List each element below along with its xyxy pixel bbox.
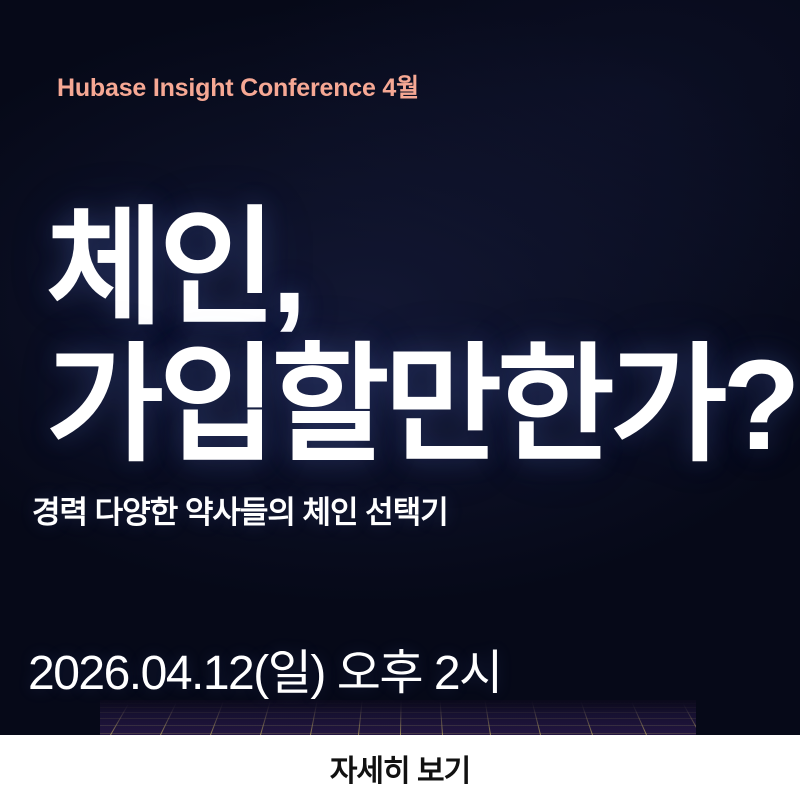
event-datetime: 2026.04.12(일) 오후 2시: [28, 633, 502, 703]
subtitle: 경력 다양한 약사들의 체인 선택기: [32, 487, 448, 532]
event-poster: Hubase Insight Conference 4월 체인, 가입할만한가?…: [0, 0, 800, 800]
conference-eyebrow: Hubase Insight Conference 4월: [57, 68, 419, 104]
detail-cta-label: 자세히 보기: [330, 746, 470, 790]
headline-line-1: 체인,: [46, 208, 746, 331]
perspective-grid-decoration: [100, 700, 696, 735]
headline-block: 체인, 가입할만한가?: [46, 208, 746, 468]
headline-line-2: 가입할만한가?: [46, 345, 746, 468]
detail-cta-button[interactable]: 자세히 보기: [0, 735, 800, 800]
